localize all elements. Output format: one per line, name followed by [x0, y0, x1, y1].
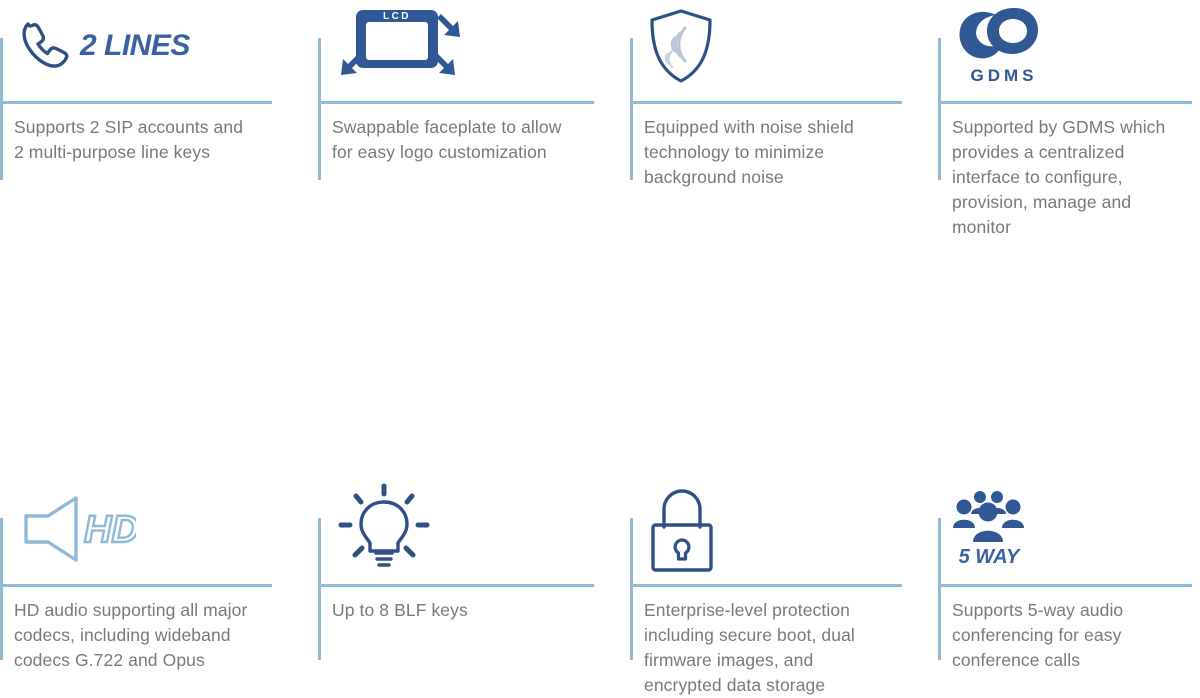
gdms-logo-icon	[952, 6, 1056, 66]
divider-vertical	[318, 38, 321, 180]
lightbulb-rays-icon	[341, 486, 427, 555]
feature-icon-container	[644, 2, 718, 90]
hd-badge: HD	[84, 509, 136, 551]
lcd-faceplate-swap-icon: LCD	[332, 4, 472, 88]
hd-speaker-icon: HD	[14, 489, 136, 569]
feature-grid: 2 LINES Supports 2 SIP accounts and 2 mu…	[0, 0, 1200, 462]
divider-vertical	[318, 518, 321, 660]
lightbulb-icon	[332, 483, 436, 575]
divider-vertical	[0, 38, 3, 180]
noise-shield-icon	[644, 6, 718, 86]
feature-icon-container: GDMS	[952, 2, 1056, 90]
divider-vertical	[938, 38, 941, 180]
feature-description: Swappable faceplate to allow for easy lo…	[332, 115, 561, 165]
padlock-icon	[644, 485, 720, 573]
lcd-label: LCD	[383, 11, 411, 22]
divider-horizontal	[938, 101, 1192, 104]
feature-icon-container: 2 LINES	[14, 2, 190, 90]
feature-icon-container: 5 WAY	[952, 485, 1026, 573]
divider-horizontal	[318, 584, 594, 587]
feature-icon-container	[644, 485, 720, 573]
feature-description: HD audio supporting all major codecs, in…	[14, 598, 247, 673]
conference-people-5-way-icon	[952, 490, 1026, 546]
divider-horizontal	[938, 584, 1192, 587]
feature-description: Up to 8 BLF keys	[332, 598, 468, 623]
phone-handset-2-lines-icon	[14, 15, 76, 77]
feature-icon-container: LCD	[332, 2, 472, 90]
gdms-wordmark: GDMS	[971, 66, 1038, 86]
feature-description: Supported by GDMS which provides a centr…	[952, 115, 1165, 240]
divider-horizontal	[630, 584, 902, 587]
feature-description: Supports 2 SIP accounts and 2 multi-purp…	[14, 115, 243, 165]
divider-horizontal	[318, 101, 594, 104]
divider-horizontal	[0, 101, 272, 104]
feature-description: Enterprise-level protection including se…	[644, 598, 855, 698]
divider-horizontal	[630, 101, 902, 104]
feature-icon-badge: 2 LINES	[80, 29, 190, 63]
five-way-badge: 5 WAY	[959, 546, 1020, 569]
divider-vertical	[630, 518, 633, 660]
divider-vertical	[630, 38, 633, 180]
feature-description: Supports 5-way audio conferencing for ea…	[952, 598, 1123, 673]
arrow-up-right-icon	[437, 14, 460, 37]
divider-horizontal	[0, 584, 272, 587]
divider-vertical	[938, 518, 941, 660]
feature-description: Equipped with noise shield technology to…	[644, 115, 854, 190]
divider-vertical	[0, 518, 3, 660]
feature-icon-container: HD	[14, 485, 136, 573]
feature-icon-container	[332, 485, 436, 573]
